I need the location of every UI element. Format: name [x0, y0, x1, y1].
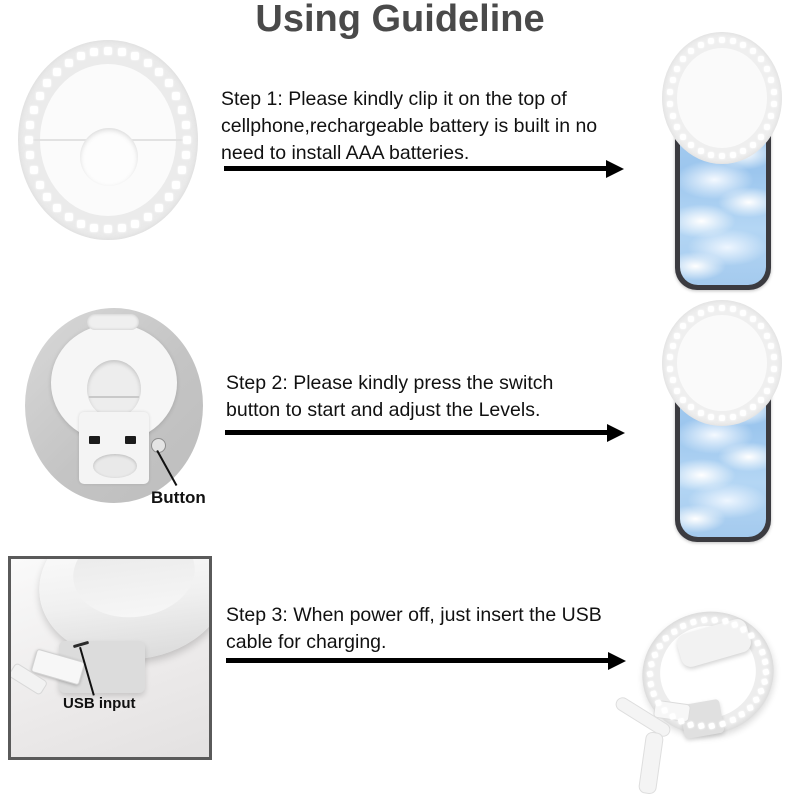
led-dot [667, 354, 673, 360]
led-dot [674, 66, 680, 72]
led-dot [36, 92, 44, 100]
usb-input-callout-label: USB input [63, 695, 136, 712]
led-dot [708, 306, 714, 312]
led-dot [750, 142, 756, 148]
button-callout-label: Button [151, 488, 206, 508]
led-dot [53, 68, 61, 76]
led-dot [183, 136, 191, 144]
led-dot [667, 101, 673, 107]
led-dot [729, 716, 736, 723]
led-dot [144, 59, 152, 67]
led-dot [764, 388, 770, 394]
led-dot [680, 622, 687, 629]
led-dot [708, 152, 714, 158]
led-dot [650, 690, 657, 697]
led-dot [750, 316, 756, 322]
led-dot [708, 414, 714, 420]
led-dot [165, 193, 173, 201]
led-dot [771, 354, 777, 360]
led-dot [708, 38, 714, 44]
led-dot [738, 711, 745, 718]
led-dot [764, 333, 770, 339]
led-dot [740, 410, 746, 416]
led-dot [674, 333, 680, 339]
led-dot [719, 153, 725, 159]
back-clip-pad [93, 454, 137, 478]
back-hole-divider [89, 396, 139, 398]
led-dot [680, 397, 686, 403]
led-dot [740, 310, 746, 316]
back-center-hole [87, 360, 141, 418]
led-dot [674, 388, 680, 394]
led-dot [104, 225, 112, 233]
led-dot [768, 113, 774, 119]
led-dot [656, 642, 663, 649]
led-dot [721, 618, 728, 625]
led-dot [758, 134, 764, 140]
led-dot [761, 658, 768, 665]
led-dot [25, 136, 33, 144]
led-dot [698, 410, 704, 416]
led-dot [688, 142, 694, 148]
led-dot [700, 616, 707, 623]
led-dot [753, 696, 760, 703]
step-3-arrow [226, 652, 626, 670]
led-dot [688, 316, 694, 322]
led-dot [680, 323, 686, 329]
guideline-page: Using Guideline Step 1: Please kindly cl… [0, 0, 800, 800]
led-dot [687, 721, 694, 728]
led-dot [90, 48, 98, 56]
led-dot [36, 181, 44, 189]
ring-light-angled-with-usb-cable [620, 606, 800, 796]
led-dot [711, 616, 718, 623]
led-dot [688, 48, 694, 54]
led-dot [90, 224, 98, 232]
led-dot [131, 220, 139, 228]
led-dot [182, 121, 190, 129]
led-dot [663, 634, 670, 641]
led-dot [740, 148, 746, 154]
step-2-row: Button Step 2: Please kindly press the s… [0, 300, 800, 545]
led-dot [178, 106, 186, 114]
led-dot [648, 661, 655, 668]
led-dot [647, 671, 654, 678]
led-dot [758, 323, 764, 329]
led-dot [771, 89, 777, 95]
led-dot [768, 377, 774, 383]
led-dot [182, 151, 190, 159]
led-dot [768, 343, 774, 349]
phone-with-ring-light-1 [650, 30, 790, 292]
led-dot [719, 415, 725, 421]
led-dot [698, 723, 705, 730]
led-dot [758, 56, 764, 62]
led-dot [118, 224, 126, 232]
led-dot [671, 628, 678, 635]
led-dot [698, 148, 704, 154]
led-dot [719, 37, 725, 43]
led-dot [754, 640, 761, 647]
led-dot [131, 52, 139, 60]
led-dot [708, 722, 715, 729]
led-dot [651, 651, 658, 658]
step-2-text: Step 2: Please kindly press the switch b… [226, 370, 606, 424]
led-dot [750, 48, 756, 54]
led-dot [730, 306, 736, 312]
ring-light-back-view: Button [25, 308, 203, 503]
led-dot [761, 678, 768, 685]
step-1-row: Step 1: Please kindly clip it on the top… [0, 30, 800, 290]
led-dot [670, 343, 676, 349]
led-dot [647, 681, 654, 688]
led-dot [43, 193, 51, 201]
led-dot [730, 414, 736, 420]
led-dot [746, 704, 753, 711]
step-3-text: Step 3: When power off, just insert the … [226, 602, 606, 656]
step-2-arrow [225, 424, 625, 442]
led-dot [65, 59, 73, 67]
led-dot [26, 151, 34, 159]
led-dot [698, 42, 704, 48]
ring-inner-face [677, 48, 767, 148]
ring-light-clipped-on-phone [662, 32, 782, 164]
led-dot [172, 181, 180, 189]
step-1-arrow [224, 160, 624, 178]
led-dot [655, 699, 662, 706]
led-dot [740, 42, 746, 48]
led-dot [730, 38, 736, 44]
ring-light-clipped-on-phone [662, 300, 782, 426]
led-dot [740, 626, 747, 633]
led-dot [104, 47, 112, 55]
led-dot [764, 124, 770, 130]
led-dot [758, 687, 765, 694]
led-dot [661, 706, 668, 713]
led-dot [26, 121, 34, 129]
led-dot [730, 152, 736, 158]
led-dot [670, 113, 676, 119]
led-dot [764, 66, 770, 72]
led-dot [762, 668, 769, 675]
led-dot [698, 310, 704, 316]
led-dot [674, 124, 680, 130]
phone-with-ring-light-2 [650, 300, 790, 545]
led-dot [667, 89, 673, 95]
led-dot [771, 101, 777, 107]
led-dot [768, 77, 774, 83]
led-dot [690, 618, 697, 625]
step-3-row: USB input Step 3: When power off, just i… [0, 548, 800, 798]
back-slot-left [89, 436, 100, 444]
led-dot [719, 305, 725, 311]
led-dot [77, 52, 85, 60]
led-dot [670, 77, 676, 83]
led-dot [750, 404, 756, 410]
led-dot [731, 621, 738, 628]
step-1-text: Step 1: Please kindly clip it on the top… [221, 86, 616, 167]
ring-light-front-view [18, 40, 198, 240]
back-top-tab [87, 314, 139, 330]
usb-input-closeup-photo: USB input [8, 556, 212, 760]
led-dot [30, 166, 38, 174]
led-dot [670, 377, 676, 383]
led-dot [30, 106, 38, 114]
led-dot [155, 68, 163, 76]
led-dot [758, 649, 765, 656]
led-dot [680, 134, 686, 140]
ring-lens-bump [80, 128, 138, 186]
led-dot [178, 166, 186, 174]
ring-inner-face [677, 315, 767, 411]
led-dot [669, 713, 676, 720]
led-dot [165, 79, 173, 87]
led-dot [172, 92, 180, 100]
led-dot [53, 204, 61, 212]
led-dot [118, 48, 126, 56]
led-dot [680, 56, 686, 62]
back-slot-right [125, 436, 136, 444]
led-dot [667, 366, 673, 372]
led-dot [155, 204, 163, 212]
led-dot [43, 79, 51, 87]
led-dot [77, 220, 85, 228]
led-dot [771, 366, 777, 372]
led-dot [65, 213, 73, 221]
led-dot [678, 718, 685, 725]
led-dot [144, 213, 152, 221]
led-dot [719, 720, 726, 727]
led-dot [758, 397, 764, 403]
led-dot [748, 632, 755, 639]
